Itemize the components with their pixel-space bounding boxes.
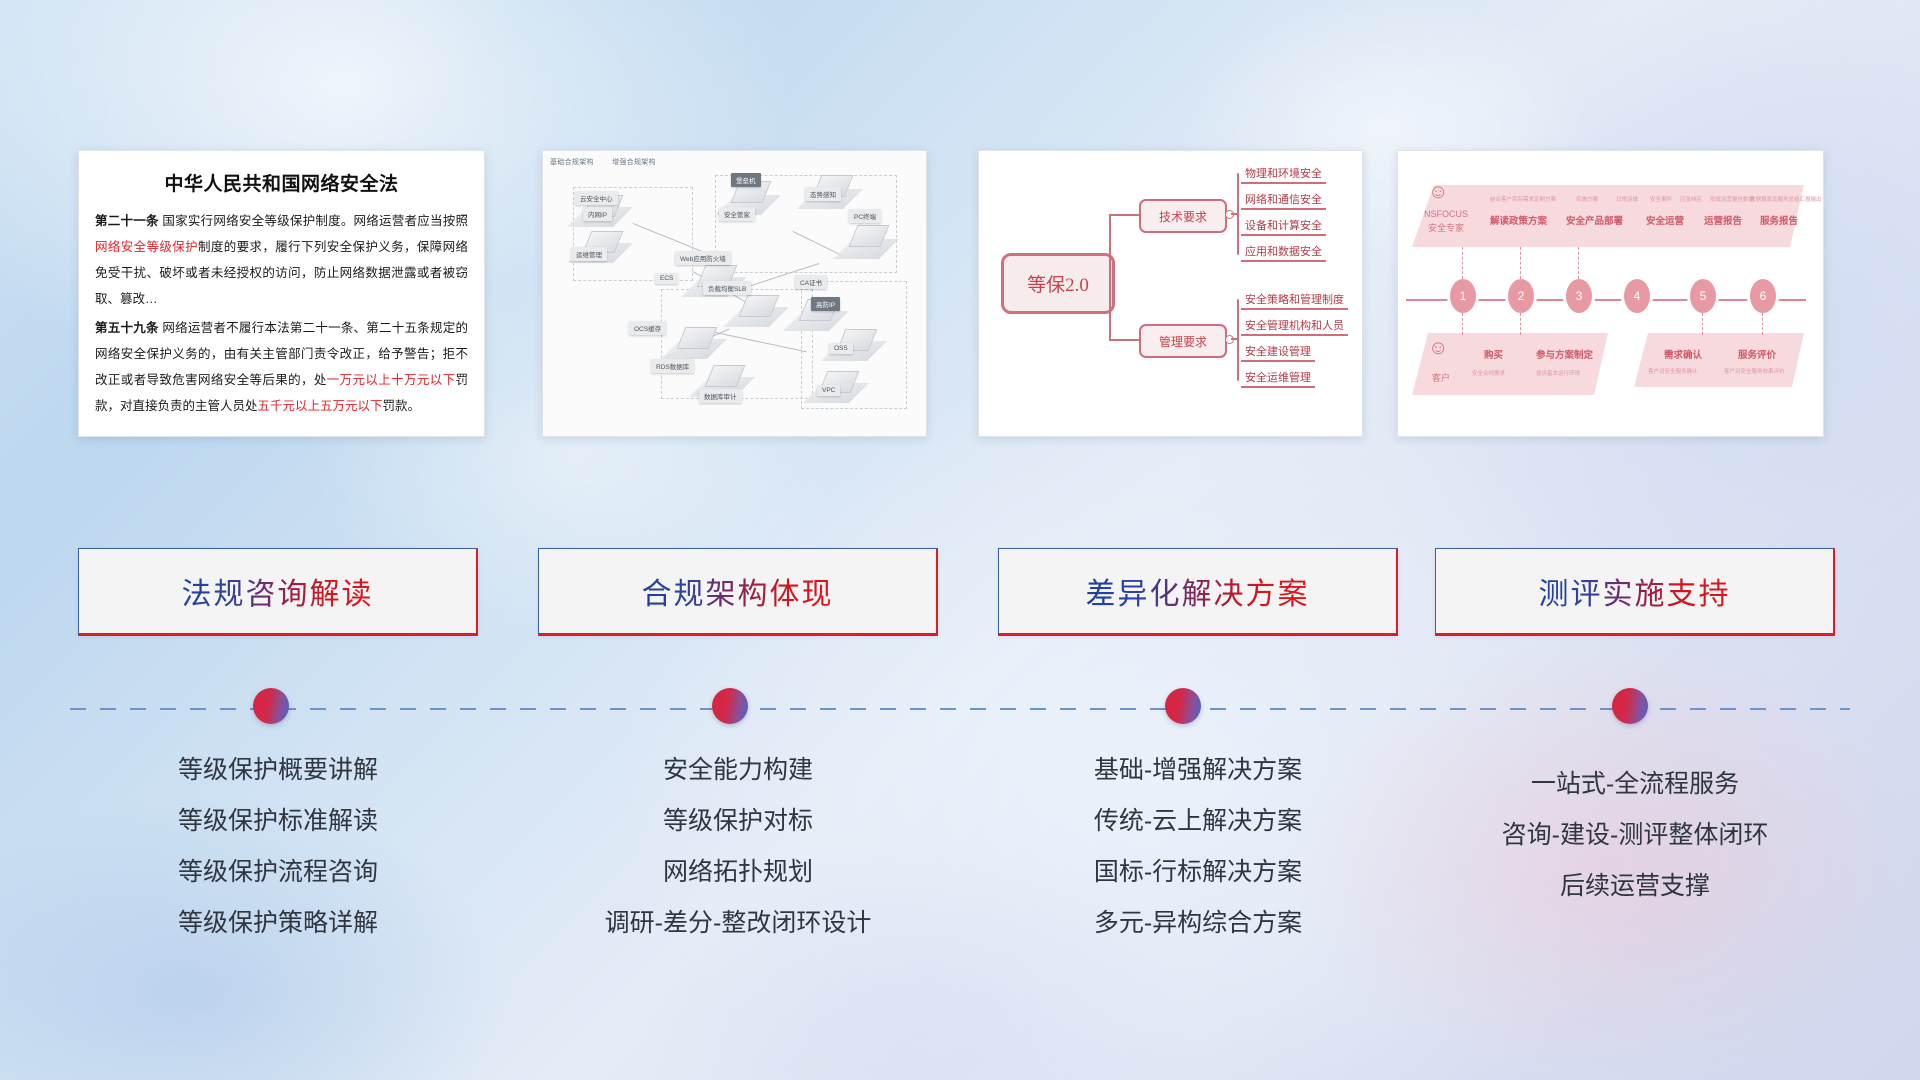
list-item: 多元-异构综合方案 [998, 898, 1398, 949]
process-step-1: 1 [1450, 279, 1476, 313]
process-top-sub-2: 实施方案 [1576, 195, 1598, 203]
mindmap-branch-management: 管理要求 [1139, 324, 1227, 358]
process-diagram: ☺ NSFOCUS 安全专家 解读政策方案 安全产品部署 安全运营 运营报告 服… [1398, 151, 1823, 436]
section-heading-label-4: 测评实施支持 [1539, 569, 1731, 613]
process-connector-3 [1578, 247, 1579, 279]
process-bottom-label-2: 参与方案制定 [1536, 347, 1593, 361]
law-document: 中华人民共和国网络安全法 第二十一条 国家实行网络安全等级保护制度。网络运营者应… [79, 151, 484, 436]
card-cybersecurity-law[interactable]: 中华人民共和国网络安全法 第二十一条 国家实行网络安全等级保护制度。网络运营者应… [78, 150, 485, 437]
law-article-59-label: 第五十九条 [95, 321, 159, 335]
list-item: 等级保护对标 [538, 796, 938, 847]
expert-name: NSFOCUS [1416, 209, 1476, 220]
section-heading-label-2: 合规架构体现 [642, 569, 834, 613]
mindmap-branch2-rail [1237, 299, 1239, 381]
architecture-label-6: Web应用防火墙 [675, 251, 731, 265]
customer-role: 客户 [1416, 373, 1466, 384]
mindmap-leaf-2-1: 安全策略和管理制度 [1241, 291, 1348, 310]
process-connector-5 [1520, 313, 1521, 335]
mindmap-root-node: 等保2.0 [1001, 253, 1115, 314]
process-bottom-sub-2: 提供基本运行环境 [1536, 369, 1580, 377]
process-step-3: 3 [1566, 279, 1592, 313]
process-bottom-sub-4: 客户对安全服务效果评价 [1724, 367, 1785, 375]
law-paragraph-59: 第五十九条 网络运营者不履行本法第二十一条、第二十五条规定的网络安全保护义务的，… [95, 315, 468, 419]
architecture-diagram: 基础合规架构 增强合规架构 [543, 151, 926, 436]
architecture-label-12: OSS [829, 343, 853, 354]
law-article-21-label: 第二十一条 [95, 214, 159, 228]
expert-avatar-icon: ☺ [1428, 181, 1448, 204]
list-item: 后续运营支撑 [1435, 861, 1835, 912]
process-top-sub-4: 安全事件 [1650, 195, 1672, 203]
architecture-header: 基础合规架构 增强合规架构 [550, 157, 672, 167]
mindmap-leaf-2-4: 安全运维管理 [1241, 369, 1315, 388]
mindmap-leaf-2-3: 安全建设管理 [1241, 343, 1315, 362]
timeline-dashed-line [70, 707, 1850, 711]
mindmap-spine-vertical [1109, 214, 1111, 339]
architecture-label-15: 数据库审计 [699, 389, 742, 403]
law-article-21-highlight: 网络安全等级保护 [95, 240, 198, 254]
architecture-label-14: VPC [817, 385, 840, 396]
process-top-label-3: 安全运营 [1646, 213, 1684, 227]
timeline-marker-1[interactable] [253, 688, 289, 724]
mindmap-spine-lower [1109, 339, 1139, 341]
mindmap-leaf-1-2: 网络和通信安全 [1241, 191, 1326, 210]
architecture-header-enhanced: 增强合规架构 [612, 159, 656, 166]
list-item: 调研-差分-整改闭环设计 [538, 898, 938, 949]
architecture-label-13: RDS数据库 [651, 359, 694, 373]
section-list-3: 基础-增强解决方案 传统-云上解决方案 国标-行标解决方案 多元-异构综合方案 [998, 745, 1398, 949]
process-step-5: 5 [1690, 279, 1716, 313]
process-connector-2 [1520, 247, 1521, 279]
architecture-label-10: 高防IP [811, 297, 840, 311]
process-bottom-label-1: 购买 [1484, 347, 1503, 361]
process-connector-4 [1462, 313, 1463, 335]
architecture-label-0: 堡垒机 [731, 173, 761, 187]
process-step-4: 4 [1624, 279, 1650, 313]
section-heading-box-2[interactable]: 合规架构体现 [538, 548, 938, 636]
process-connector-7 [1762, 313, 1763, 335]
section-heading-box-1[interactable]: 法规咨询解读 [78, 548, 478, 636]
process-bottom-sub-1: 安全合规要求 [1472, 369, 1505, 377]
section-heading-box-3[interactable]: 差异化解决方案 [998, 548, 1398, 636]
law-article-59-fine-person: 五千元以上五万元以下 [258, 399, 383, 413]
card-service-process[interactable]: ☺ NSFOCUS 安全专家 解读政策方案 安全产品部署 安全运营 运营报告 服… [1397, 150, 1824, 437]
process-top-label-1: 解读政策方案 [1490, 213, 1547, 227]
process-step-6: 6 [1750, 279, 1776, 313]
card-cloud-architecture[interactable]: 基础合规架构 增强合规架构 [542, 150, 927, 437]
list-item: 国标-行标解决方案 [998, 847, 1398, 898]
architecture-header-basic: 基础合规架构 [550, 159, 594, 166]
list-item: 一站式-全流程服务 [1435, 759, 1835, 810]
section-heading-label-3: 差异化解决方案 [1086, 569, 1310, 613]
section-heading-box-4[interactable]: 测评实施支持 [1435, 548, 1835, 636]
mindmap-leaf-1-4: 应用和数据安全 [1241, 243, 1326, 262]
card-dengbao-mindmap[interactable]: 等保2.0 技术要求 物理和环境安全 网络和通信安全 设备和计算安全 应用和数据… [978, 150, 1363, 437]
list-item: 等级保护策略详解 [78, 898, 478, 949]
list-item: 传统-云上解决方案 [998, 796, 1398, 847]
mindmap-branch-technical: 技术要求 [1139, 199, 1227, 233]
timeline-marker-2[interactable] [712, 688, 748, 724]
process-bottom-sub-3: 客户对安全服务确认 [1648, 367, 1698, 375]
expert-role: 安全专家 [1416, 223, 1476, 234]
slide-stage: 中华人民共和国网络安全法 第二十一条 国家实行网络安全等级保护制度。网络运营者应… [0, 0, 1920, 1080]
law-article-59-text-c: 罚款。 [383, 399, 421, 413]
process-connector-1 [1462, 247, 1463, 279]
process-top-label-2: 安全产品部署 [1566, 213, 1623, 227]
section-item-lists: 等级保护概要讲解 等级保护标准解读 等级保护流程咨询 等级保护策略详解 安全能力… [0, 745, 1920, 975]
process-top-sub-7: 数据报表及服务总结汇报输出 [1750, 195, 1822, 203]
mindmap-branch2-hook [1231, 338, 1239, 340]
timeline-marker-4[interactable] [1612, 688, 1648, 724]
list-item: 等级保护标准解读 [78, 796, 478, 847]
list-item: 安全能力构建 [538, 745, 938, 796]
mindmap-diagram: 等保2.0 技术要求 物理和环境安全 网络和通信安全 设备和计算安全 应用和数据… [979, 151, 1362, 436]
law-title: 中华人民共和国网络安全法 [95, 169, 468, 196]
mindmap-branch1-hook [1231, 213, 1239, 215]
process-top-sub-6: 形成运营报告数据 [1710, 195, 1754, 203]
process-top-sub-5: 应急响应 [1680, 195, 1702, 203]
process-bottom-label-3: 需求确认 [1664, 347, 1702, 361]
mindmap-leaf-2-2: 安全管理机构和人员 [1241, 317, 1348, 336]
process-top-sub-1: 结合客户实际需求定制方案 [1490, 195, 1556, 203]
law-article-21-text-a: 国家实行网络安全等级保护制度。网络运营者应当按照 [159, 214, 468, 228]
section-list-1: 等级保护概要讲解 等级保护标准解读 等级保护流程咨询 等级保护策略详解 [78, 745, 478, 949]
customer-avatar-icon: ☺ [1428, 337, 1448, 360]
timeline-marker-3[interactable] [1165, 688, 1201, 724]
architecture-label-9: CA证书 [795, 275, 827, 289]
process-step-2: 2 [1508, 279, 1534, 313]
section-heading-row: 法规咨询解读 合规架构体现 差异化解决方案 测评实施支持 [0, 548, 1920, 640]
architecture-label-5: 态势感知 [805, 187, 841, 201]
architecture-label-16: 云安全中心 [575, 191, 618, 205]
architecture-label-4: PC终端 [849, 209, 881, 223]
architecture-label-8: ECS [655, 273, 678, 284]
law-article-59-fine-company: 一万元以上十万元以下 [327, 373, 456, 387]
list-item: 等级保护概要讲解 [78, 745, 478, 796]
section-list-4: 一站式-全流程服务 咨询-建设-测评整体闭环 后续运营支撑 [1435, 759, 1835, 912]
architecture-label-2: 运维管理 [571, 247, 607, 261]
architecture-label-1: 内网IP [583, 207, 612, 221]
list-item: 咨询-建设-测评整体闭环 [1435, 810, 1835, 861]
process-top-label-5: 服务报告 [1760, 213, 1798, 227]
process-connector-6 [1702, 313, 1703, 335]
process-band-customer-right [1634, 333, 1804, 387]
architecture-label-7: 负载均衡SLB [703, 281, 751, 295]
list-item: 基础-增强解决方案 [998, 745, 1398, 796]
architecture-label-11: OCS缓存 [629, 321, 666, 335]
process-bottom-label-4: 服务评价 [1738, 347, 1776, 361]
mindmap-spine-upper [1109, 214, 1139, 216]
section-list-2: 安全能力构建 等级保护对标 网络拓扑规划 调研-差分-整改闭环设计 [538, 745, 938, 949]
process-top-label-4: 运营报告 [1704, 213, 1742, 227]
process-top-sub-3: 日常运维 [1616, 195, 1638, 203]
law-paragraph-21: 第二十一条 国家实行网络安全等级保护制度。网络运营者应当按照网络安全等级保护制度… [95, 208, 468, 312]
thumbnail-card-row: 中华人民共和国网络安全法 第二十一条 国家实行网络安全等级保护制度。网络运营者应… [0, 150, 1920, 440]
mindmap-leaf-1-3: 设备和计算安全 [1241, 217, 1326, 236]
architecture-label-3: 安全管家 [719, 207, 755, 221]
list-item: 等级保护流程咨询 [78, 847, 478, 898]
list-item: 网络拓扑规划 [538, 847, 938, 898]
section-heading-label-1: 法规咨询解读 [182, 569, 374, 613]
mindmap-leaf-1-1: 物理和环境安全 [1241, 165, 1326, 184]
